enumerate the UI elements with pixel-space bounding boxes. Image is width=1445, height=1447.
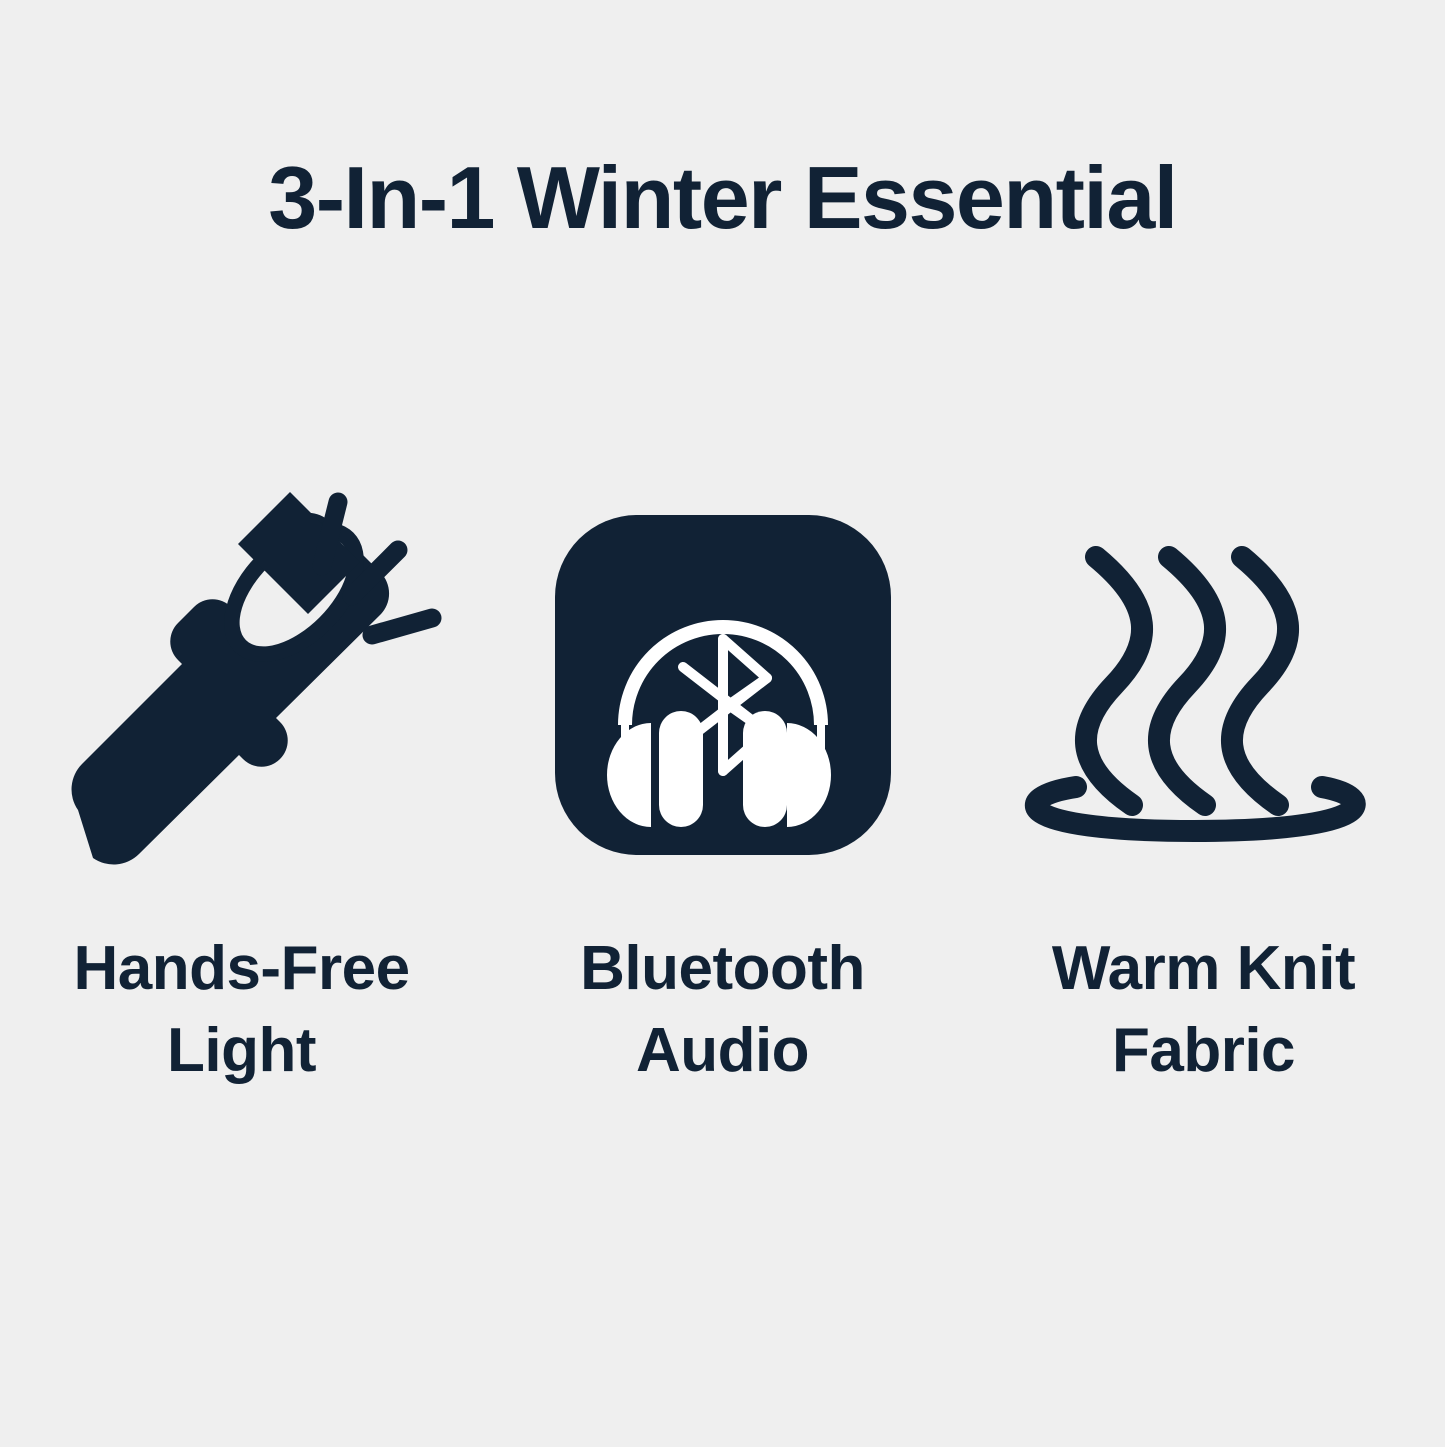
heat-wave-3	[1231, 557, 1287, 805]
heat-wave-2	[1158, 557, 1214, 805]
page-title: 3-In-1 Winter Essential	[0, 152, 1445, 244]
feature-row: Hands-Free Light	[0, 470, 1445, 1092]
feature-item-bluetooth-audio: Bluetooth Audio	[482, 470, 963, 1092]
feature-item-warm-knit-fabric: Warm Knit Fabric	[963, 470, 1444, 1092]
heat-wave-1	[1085, 557, 1141, 805]
heat-waves-icon-wrap	[994, 470, 1414, 900]
feature-label-warm-knit-fabric: Warm Knit Fabric	[994, 928, 1414, 1092]
flashlight-icon	[42, 480, 442, 890]
bluetooth-headphones-icon	[555, 515, 891, 855]
flashlight-icon-wrap	[32, 470, 452, 900]
bluetooth-headphones-icon-wrap	[513, 470, 933, 900]
feature-highlight-graphic: 3-In-1 Winter Essential	[0, 0, 1445, 1447]
feature-label-hands-free-light: Hands-Free Light	[32, 928, 452, 1092]
light-ray-3	[372, 618, 432, 635]
heat-waves-icon	[1004, 535, 1404, 835]
feature-item-hands-free-light: Hands-Free Light	[1, 470, 482, 1092]
feature-label-bluetooth-audio: Bluetooth Audio	[513, 928, 933, 1092]
